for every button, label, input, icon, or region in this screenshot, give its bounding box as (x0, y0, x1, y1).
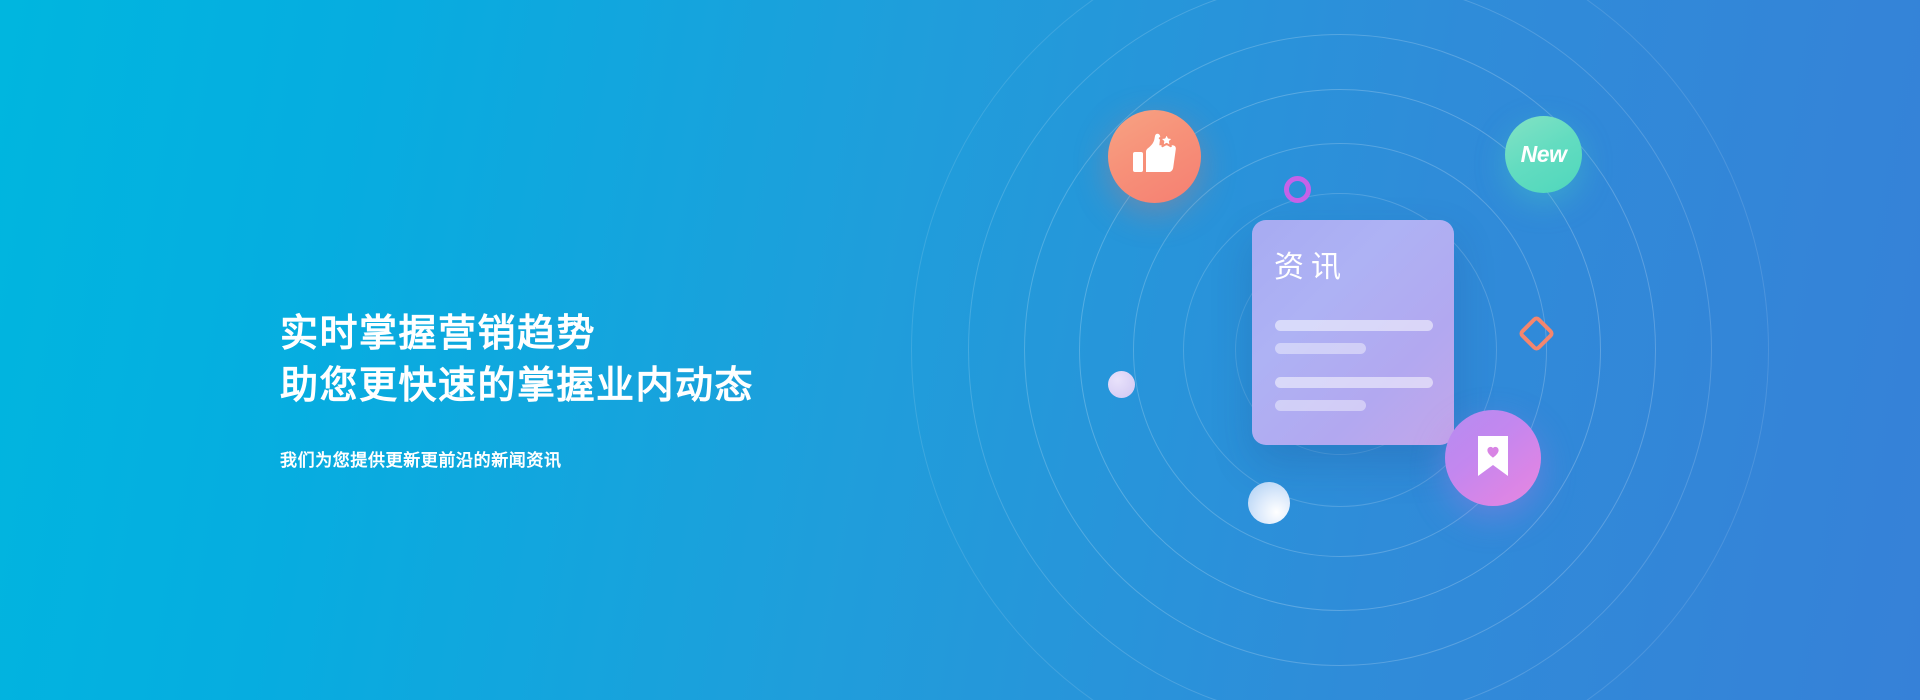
orange-diamond-icon (1517, 314, 1555, 352)
promo-banner: 实时掌握营销趋势 助您更快速的掌握业内动态 我们为您提供更新更前沿的新闻资讯 资… (0, 0, 1920, 700)
news-card-placeholder-line (1275, 343, 1366, 354)
bookmark-badge (1445, 410, 1541, 506)
news-card: 资讯 (1252, 220, 1454, 445)
new-badge-label: New (1521, 141, 1567, 168)
bookmark-heart-icon (1476, 435, 1510, 482)
banner-subline: 我们为您提供更新更前沿的新闻资讯 (280, 446, 1040, 471)
news-card-placeholder-line (1275, 377, 1433, 388)
lavender-dot-icon (1108, 371, 1135, 398)
banner-illustration: 资讯 New (1100, 80, 1620, 620)
new-badge: New (1505, 116, 1582, 193)
thumbs-up-star-icon (1131, 132, 1179, 181)
magenta-ring-dot-icon (1284, 176, 1311, 203)
light-blue-sphere-icon (1248, 482, 1290, 524)
headline-line-2: 助您更快速的掌握业内动态 (280, 360, 1040, 412)
headline-line-1: 实时掌握营销趋势 (280, 308, 1040, 360)
banner-copy: 实时掌握营销趋势 助您更快速的掌握业内动态 我们为您提供更新更前沿的新闻资讯 (280, 308, 1040, 471)
news-card-placeholder-line (1275, 320, 1433, 331)
like-badge (1108, 110, 1201, 203)
news-card-placeholder-line (1275, 400, 1366, 411)
news-card-title: 资讯 (1274, 242, 1348, 286)
